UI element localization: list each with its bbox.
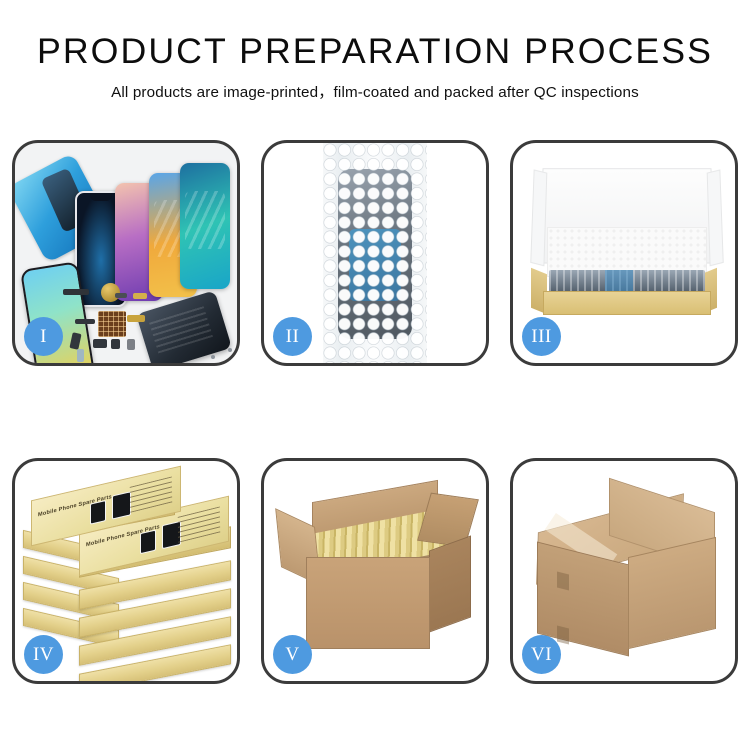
flex-cable-part [63, 289, 89, 295]
screw-part [220, 362, 224, 363]
phone-display-teal [180, 163, 230, 289]
page-subtitle: All products are image-printed，film-coat… [0, 80, 750, 102]
header: PRODUCT PREPARATION PROCESS All products… [0, 0, 750, 102]
carton-handle-slot [557, 572, 569, 591]
step-panel-vi: VI [510, 458, 738, 684]
box-phone-graphic [112, 491, 131, 519]
box-phone-graphic [90, 500, 106, 525]
camera-module-part [93, 339, 107, 348]
step-badge-vi: VI [522, 635, 561, 674]
button-part [127, 339, 135, 350]
product-preparation-infographic: PRODUCT PREPARATION PROCESS All products… [0, 0, 750, 750]
box-phone-graphic [140, 530, 156, 555]
connector-grid-part [98, 311, 126, 337]
sim-tray-part [77, 349, 84, 362]
carton-side-panel [429, 535, 471, 632]
box-spec-lines [178, 506, 220, 542]
box-spec-lines [130, 476, 172, 512]
phone-backplate [136, 290, 232, 363]
step-badge-v: V [273, 635, 312, 674]
carton-handle-slot [557, 626, 569, 645]
screw-part [211, 355, 215, 359]
step-badge-iii: III [522, 317, 561, 356]
vibrator-part [111, 339, 120, 349]
carton-front-panel [306, 557, 430, 649]
carton-right-face [628, 537, 716, 649]
step-panel-iv: Mobile Phone Spare Parts Mobile Phone Sp… [12, 458, 240, 684]
bubble-texture-highlight [323, 143, 427, 363]
gold-connector-part [127, 315, 145, 322]
step-panel-ii: II [261, 140, 489, 366]
page-title: PRODUCT PREPARATION PROCESS [0, 34, 750, 71]
step-panel-v: V [261, 458, 489, 684]
process-steps-grid: I II III [12, 140, 738, 684]
step-panel-iii: III [510, 140, 738, 366]
bracket-part [115, 293, 127, 298]
box-front-panel [543, 291, 711, 315]
speaker-part [75, 319, 95, 324]
step-panel-i: I [12, 140, 240, 366]
gold-flex-part [133, 293, 147, 299]
step-badge-ii: II [273, 317, 312, 356]
step-badge-iv: IV [24, 635, 63, 674]
screw-part [228, 348, 232, 352]
step-badge-i: I [24, 317, 63, 356]
